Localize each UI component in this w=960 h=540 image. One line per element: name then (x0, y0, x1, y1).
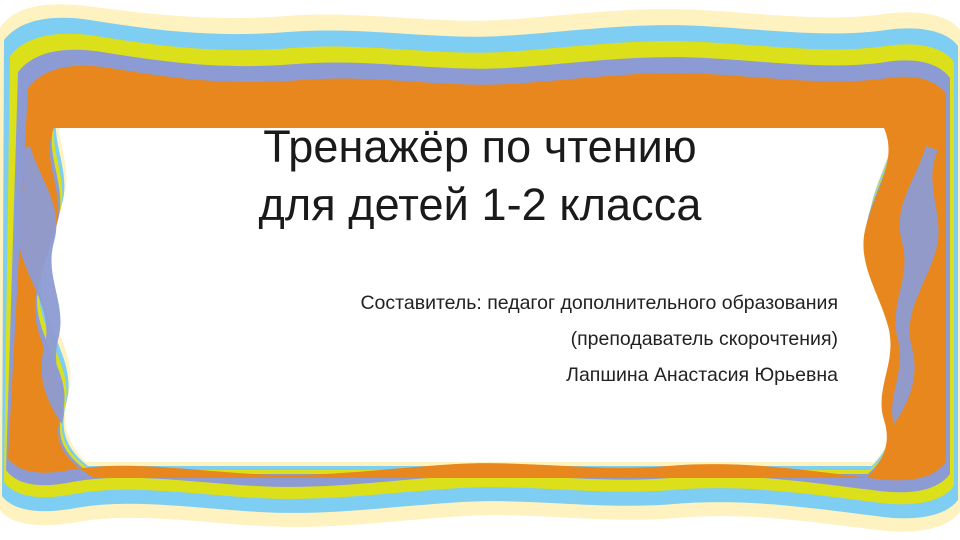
page-title: Тренажёр по чтению для детей 1-2 класса (130, 118, 830, 234)
title-line-2: для детей 1-2 класса (130, 176, 830, 234)
subtitle-line-1: Составитель: педагог дополнительного обр… (200, 285, 838, 321)
subtitle: Составитель: педагог дополнительного обр… (200, 285, 838, 393)
presentation-slide: Тренажёр по чтению для детей 1-2 класса … (0, 0, 960, 540)
subtitle-line-2: (преподаватель скорочтения) (200, 321, 838, 357)
slide-content: Тренажёр по чтению для детей 1-2 класса … (0, 0, 960, 540)
subtitle-line-3: Лапшина Анастасия Юрьевна (200, 357, 838, 393)
title-line-1: Тренажёр по чтению (130, 118, 830, 176)
